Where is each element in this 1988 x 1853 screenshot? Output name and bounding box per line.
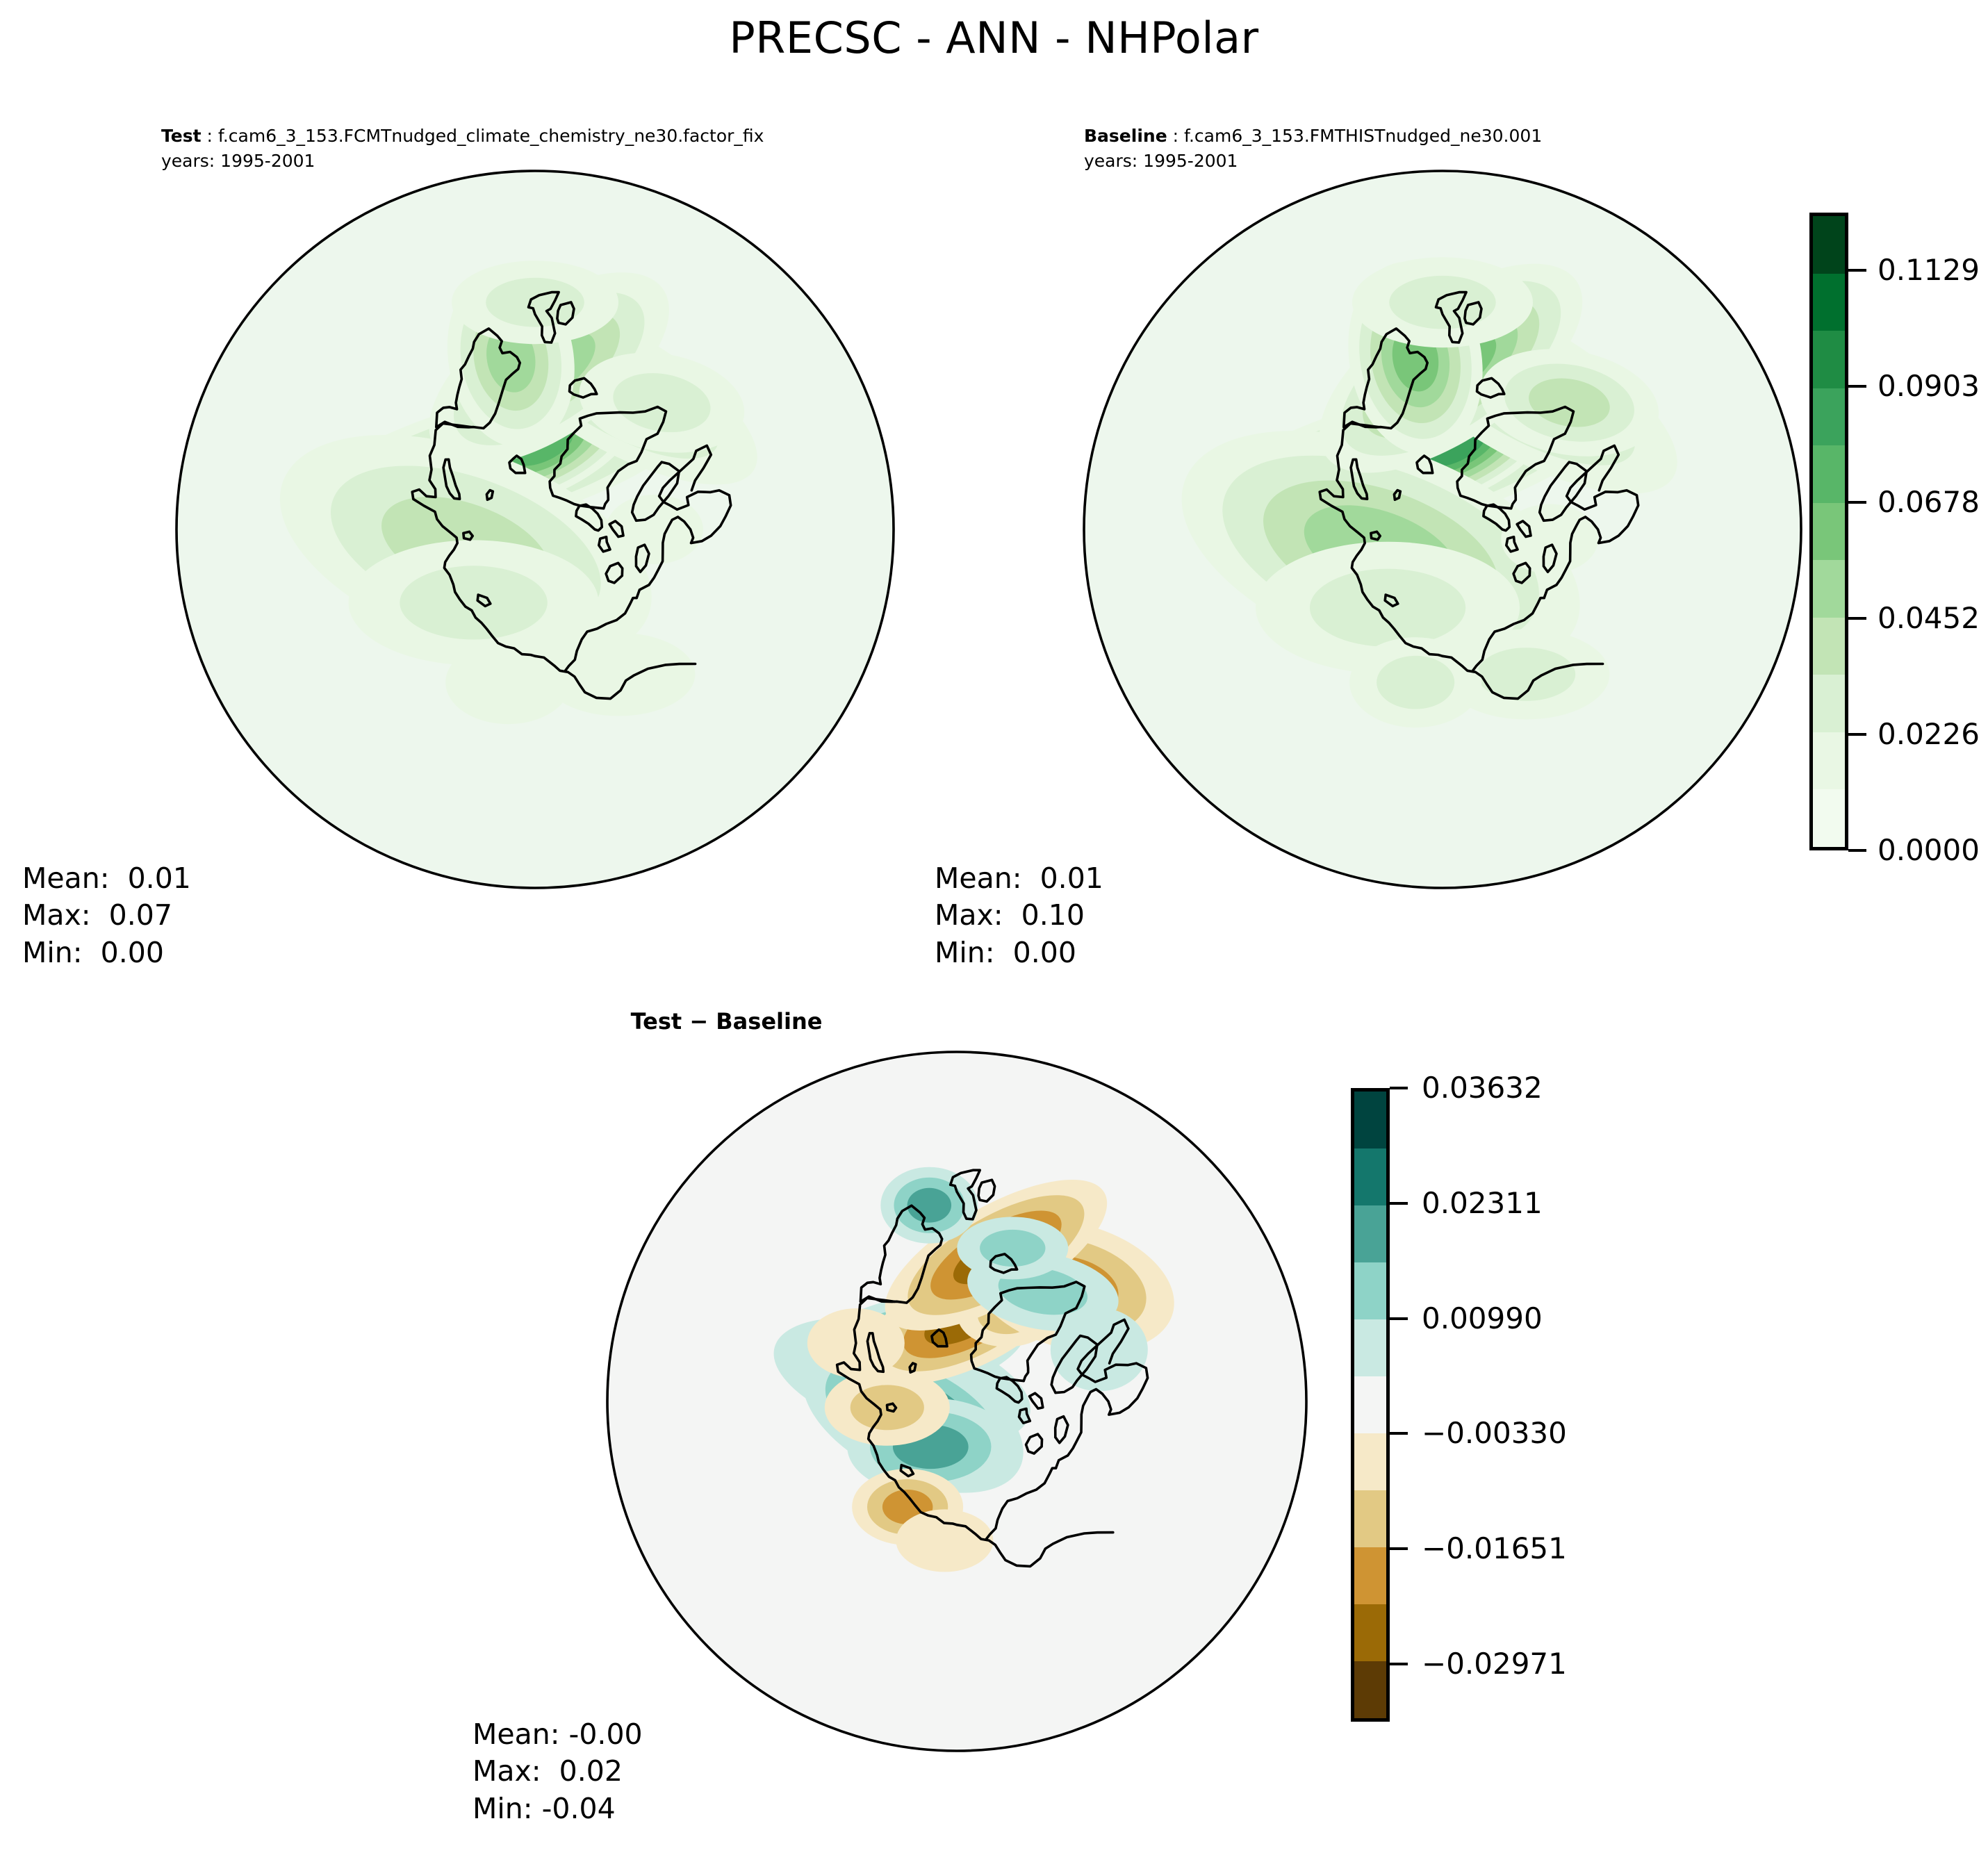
colorbar-tick-label-3: −0.00330 [1422, 1419, 1567, 1448]
colorbar-band-5 [1354, 1376, 1386, 1433]
colorbar-tick-label-5: −0.02971 [1422, 1649, 1567, 1679]
baseline-label: Baseline [1084, 126, 1167, 146]
colorbar-band-0 [1354, 1092, 1386, 1148]
colorbar-band-2 [1354, 1205, 1386, 1262]
colorbar-tick-5 [1848, 849, 1866, 852]
colorbar-band-6 [1813, 560, 1845, 618]
baseline-case-name: f.cam6_3_153.FMTHISTnudged_ne30.001 [1184, 126, 1542, 146]
colorbar-band-0 [1813, 216, 1845, 274]
difference-map-plot [602, 1046, 1312, 1756]
colorbar-tick-2 [1390, 1317, 1408, 1320]
diff-colorbar[interactable]: 0.036320.023110.00990−0.00330−0.01651−0.… [1351, 1088, 1559, 1722]
test-case-name: f.cam6_3_153.FCMTnudged_climate_chemistr… [218, 126, 764, 146]
colorbar-tick-4 [1848, 733, 1866, 736]
colorbar-band-7 [1813, 618, 1845, 675]
colorbar-band-2 [1813, 331, 1845, 388]
baseline-map-plot [1078, 165, 1807, 893]
difference-panel-title: Test − Baseline [0, 1008, 1453, 1035]
colorbar-band-5 [1813, 503, 1845, 561]
colorbar-tick-label-4: 0.0226 [1878, 720, 1980, 749]
main-colorbar[interactable]: 0.11290.09030.06780.04520.02260.0000 [1809, 213, 1988, 850]
colorbar-tick-label-3: 0.0452 [1878, 604, 1980, 633]
diff-colorbar-bar [1351, 1088, 1390, 1722]
colorbar-tick-2 [1848, 501, 1866, 504]
test-map-plot [171, 165, 899, 893]
colorbar-band-8 [1813, 675, 1845, 732]
colorbar-tick-label-2: 0.0678 [1878, 488, 1980, 517]
test-stats: Mean: 0.01 Max: 0.07 Min: 0.00 [22, 860, 191, 971]
colorbar-tick-label-1: 0.02311 [1422, 1189, 1543, 1218]
colorbar-band-1 [1813, 274, 1845, 331]
test-separator: : [202, 126, 218, 146]
colorbar-band-3 [1813, 388, 1845, 446]
colorbar-tick-label-0: 0.1129 [1878, 256, 1980, 285]
colorbar-band-9 [1813, 732, 1845, 790]
test-label: Test [161, 126, 202, 146]
colorbar-tick-0 [1848, 269, 1866, 272]
baseline-stats: Mean: 0.01 Max: 0.10 Min: 0.00 [935, 860, 1103, 971]
colorbar-tick-3 [1390, 1432, 1408, 1435]
colorbar-tick-1 [1848, 385, 1866, 388]
colorbar-band-4 [1813, 445, 1845, 503]
colorbar-band-10 [1354, 1661, 1386, 1718]
colorbar-tick-3 [1848, 617, 1866, 620]
colorbar-tick-5 [1390, 1663, 1408, 1665]
colorbar-band-4 [1354, 1319, 1386, 1376]
main-colorbar-bar [1809, 213, 1848, 850]
colorbar-tick-label-1: 0.0903 [1878, 372, 1980, 401]
colorbar-tick-label-5: 0.0000 [1878, 836, 1980, 865]
colorbar-tick-label-4: −0.01651 [1422, 1534, 1567, 1563]
difference-stats: Mean: -0.00 Max: 0.02 Min: -0.04 [473, 1716, 643, 1827]
colorbar-band-9 [1354, 1604, 1386, 1661]
colorbar-tick-4 [1390, 1547, 1408, 1550]
colorbar-tick-label-2: 0.00990 [1422, 1304, 1543, 1333]
colorbar-tick-1 [1390, 1202, 1408, 1205]
baseline-separator: : [1167, 126, 1184, 146]
colorbar-band-10 [1813, 789, 1845, 847]
colorbar-band-6 [1354, 1433, 1386, 1490]
colorbar-band-1 [1354, 1148, 1386, 1205]
page-title: PRECSC - ANN - NHPolar [0, 13, 1988, 63]
colorbar-tick-label-0: 0.03632 [1422, 1073, 1543, 1103]
colorbar-band-3 [1354, 1262, 1386, 1319]
colorbar-band-7 [1354, 1490, 1386, 1547]
colorbar-tick-0 [1390, 1087, 1408, 1089]
colorbar-band-8 [1354, 1547, 1386, 1604]
